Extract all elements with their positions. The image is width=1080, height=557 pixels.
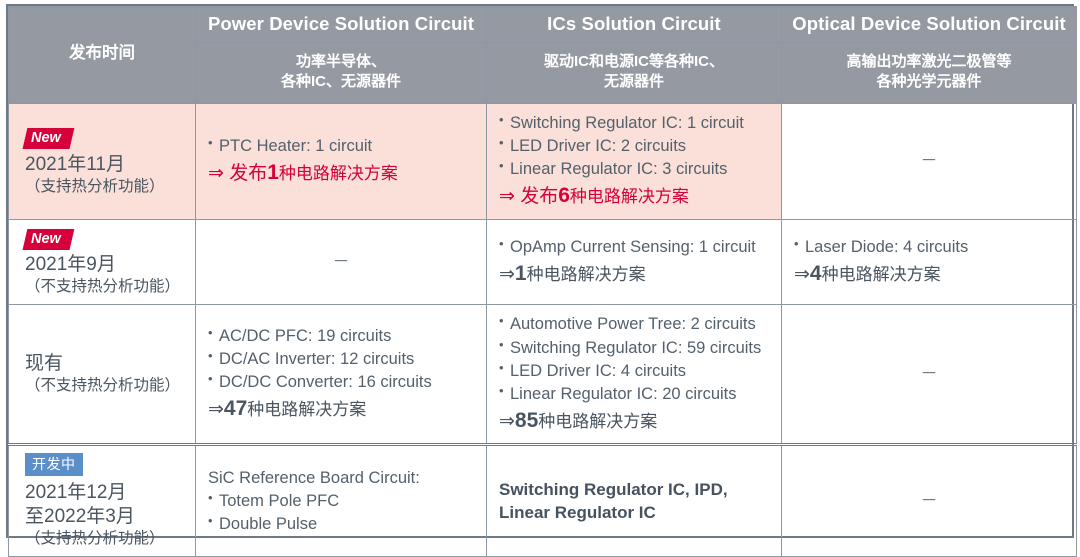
empty-dash: －	[921, 151, 938, 170]
list-item: LED Driver IC: 4 circuits	[499, 360, 769, 383]
cell-bold-text: Switching Regulator IC, IPD,Linear Regul…	[499, 478, 769, 525]
optical-device-cell: －	[782, 104, 1077, 220]
circuit-count-summary: ⇒ 发布6种电路解决方案	[499, 182, 769, 211]
new-badge-label: New	[31, 232, 61, 247]
list-item: OpAmp Current Sensing: 1 circuit	[499, 236, 769, 259]
empty-dash: －	[921, 491, 938, 510]
table-row: 现有（不支持热分析功能）AC/DC PFC: 19 circuitsDC/AC …	[9, 305, 1077, 445]
thermal-analysis-note: （不支持热分析功能）	[25, 376, 195, 396]
circuit-count-summary: ⇒4种电路解决方案	[794, 260, 1064, 289]
optical-device-cell: Laser Diode: 4 circuits⇒4种电路解决方案	[782, 219, 1077, 305]
solution-circuit-table-container: 发布时间 Power Device Solution Circuit ICs S…	[6, 4, 1074, 538]
in-development-badge: 开发中	[25, 453, 83, 476]
table-header: 发布时间 Power Device Solution Circuit ICs S…	[9, 7, 1077, 104]
power-device-cell: AC/DC PFC: 19 circuitsDC/AC Inverter: 12…	[196, 305, 487, 445]
list-item: Switching Regulator IC: 1 circuit	[499, 112, 769, 135]
circuit-list: PTC Heater: 1 circuit	[208, 135, 474, 158]
summary-number: 4	[810, 262, 822, 285]
summary-prefix: ⇒	[208, 399, 224, 420]
header-row-english: 发布时间 Power Device Solution Circuit ICs S…	[9, 7, 1077, 43]
circuit-list: AC/DC PFC: 19 circuitsDC/AC Inverter: 12…	[208, 325, 474, 394]
power-device-cell: PTC Heater: 1 circuit⇒ 发布1种电路解决方案	[196, 104, 487, 220]
power-device-cell: －	[196, 219, 487, 305]
summary-number: 47	[224, 397, 247, 420]
circuit-list: Automotive Power Tree: 2 circuitsSwitchi…	[499, 313, 769, 405]
list-item: LED Driver IC: 2 circuits	[499, 135, 769, 158]
ics-cell: Automotive Power Tree: 2 circuitsSwitchi…	[487, 305, 782, 445]
summary-suffix: 种电路解决方案	[570, 187, 689, 206]
optical-device-cell: －	[782, 305, 1077, 445]
list-item: Linear Regulator IC: 3 circuits	[499, 158, 769, 181]
header-power-device-cn: 功率半导体、各种IC、无源器件	[196, 43, 487, 104]
thermal-analysis-note: （支持热分析功能）	[25, 177, 195, 197]
empty-dash: －	[333, 252, 350, 271]
table-row: New2021年9月（不支持热分析功能）－OpAmp Current Sensi…	[9, 219, 1077, 305]
release-time-cell: New2021年11月（支持热分析功能）	[9, 104, 196, 220]
list-item: DC/AC Inverter: 12 circuits	[208, 348, 474, 371]
new-badge: New	[23, 229, 75, 250]
summary-prefix: ⇒ 发布	[499, 186, 558, 207]
release-date: 现有	[25, 352, 195, 376]
header-optical-device-cn: 高输出功率激光二极管等各种光学元器件	[782, 43, 1077, 104]
list-item: Double Pulse	[208, 513, 474, 536]
list-item: Linear Regulator IC: 20 circuits	[499, 383, 769, 406]
header-release-time: 发布时间	[9, 7, 196, 104]
ics-cell: Switching Regulator IC, IPD,Linear Regul…	[487, 445, 782, 557]
circuit-list: Switching Regulator IC: 1 circuitLED Dri…	[499, 112, 769, 181]
table-row: 开发中2021年12月至2022年3月（支持热分析功能）SiC Referenc…	[9, 445, 1077, 557]
summary-prefix: ⇒ 发布	[208, 163, 267, 184]
circuit-count-summary: ⇒1种电路解决方案	[499, 260, 769, 289]
release-date: 2021年9月	[25, 253, 195, 277]
new-badge: New	[23, 128, 75, 149]
summary-prefix: ⇒	[499, 411, 515, 432]
optical-device-cell: －	[782, 445, 1077, 557]
list-item: Switching Regulator IC: 59 circuits	[499, 337, 769, 360]
release-time-cell: 开发中2021年12月至2022年3月（支持热分析功能）	[9, 445, 196, 557]
table-body: New2021年11月（支持热分析功能）PTC Heater: 1 circui…	[9, 104, 1077, 557]
circuit-list: OpAmp Current Sensing: 1 circuit	[499, 236, 769, 259]
list-item: Laser Diode: 4 circuits	[794, 236, 1064, 259]
summary-suffix: 种电路解决方案	[822, 265, 941, 284]
circuit-list: Totem Pole PFCDouble Pulse	[208, 490, 474, 536]
summary-suffix: 种电路解决方案	[538, 412, 657, 431]
circuit-list: Laser Diode: 4 circuits	[794, 236, 1064, 259]
summary-number: 85	[515, 409, 538, 432]
release-date: 2021年12月至2022年3月	[25, 481, 195, 529]
ics-cell: OpAmp Current Sensing: 1 circuit⇒1种电路解决方…	[487, 219, 782, 305]
summary-prefix: ⇒	[794, 264, 810, 285]
summary-number: 1	[267, 161, 279, 184]
header-ics-cn: 驱动IC和电源IC等各种IC、无源器件	[487, 43, 782, 104]
cell-lead-text: SiC Reference Board Circuit:	[208, 467, 474, 490]
summary-number: 1	[515, 262, 527, 285]
header-optical-device-en: Optical Device Solution Circuit	[782, 7, 1077, 43]
header-power-device-en: Power Device Solution Circuit	[196, 7, 487, 43]
summary-suffix: 种电路解决方案	[527, 265, 646, 284]
solution-circuit-table: 发布时间 Power Device Solution Circuit ICs S…	[8, 6, 1077, 557]
release-time-cell: New2021年9月（不支持热分析功能）	[9, 219, 196, 305]
summary-suffix: 种电路解决方案	[279, 164, 398, 183]
thermal-analysis-note: （支持热分析功能）	[25, 529, 195, 549]
list-item: DC/DC Converter: 16 circuits	[208, 371, 474, 394]
list-item: AC/DC PFC: 19 circuits	[208, 325, 474, 348]
table-row: New2021年11月（支持热分析功能）PTC Heater: 1 circui…	[9, 104, 1077, 220]
list-item: PTC Heater: 1 circuit	[208, 135, 474, 158]
empty-dash: －	[921, 364, 938, 383]
thermal-analysis-note: （不支持热分析功能）	[25, 277, 195, 297]
ics-cell: Switching Regulator IC: 1 circuitLED Dri…	[487, 104, 782, 220]
summary-suffix: 种电路解决方案	[247, 400, 366, 419]
circuit-count-summary: ⇒47种电路解决方案	[208, 395, 474, 424]
power-device-cell: SiC Reference Board Circuit:Totem Pole P…	[196, 445, 487, 557]
summary-prefix: ⇒	[499, 264, 515, 285]
circuit-count-summary: ⇒85种电路解决方案	[499, 407, 769, 436]
new-badge-label: New	[31, 131, 61, 146]
list-item: Totem Pole PFC	[208, 490, 474, 513]
release-date: 2021年11月	[25, 153, 195, 177]
summary-number: 6	[558, 184, 570, 207]
header-ics-en: ICs Solution Circuit	[487, 7, 782, 43]
circuit-count-summary: ⇒ 发布1种电路解决方案	[208, 159, 474, 188]
list-item: Automotive Power Tree: 2 circuits	[499, 313, 769, 336]
release-time-cell: 现有（不支持热分析功能）	[9, 305, 196, 445]
